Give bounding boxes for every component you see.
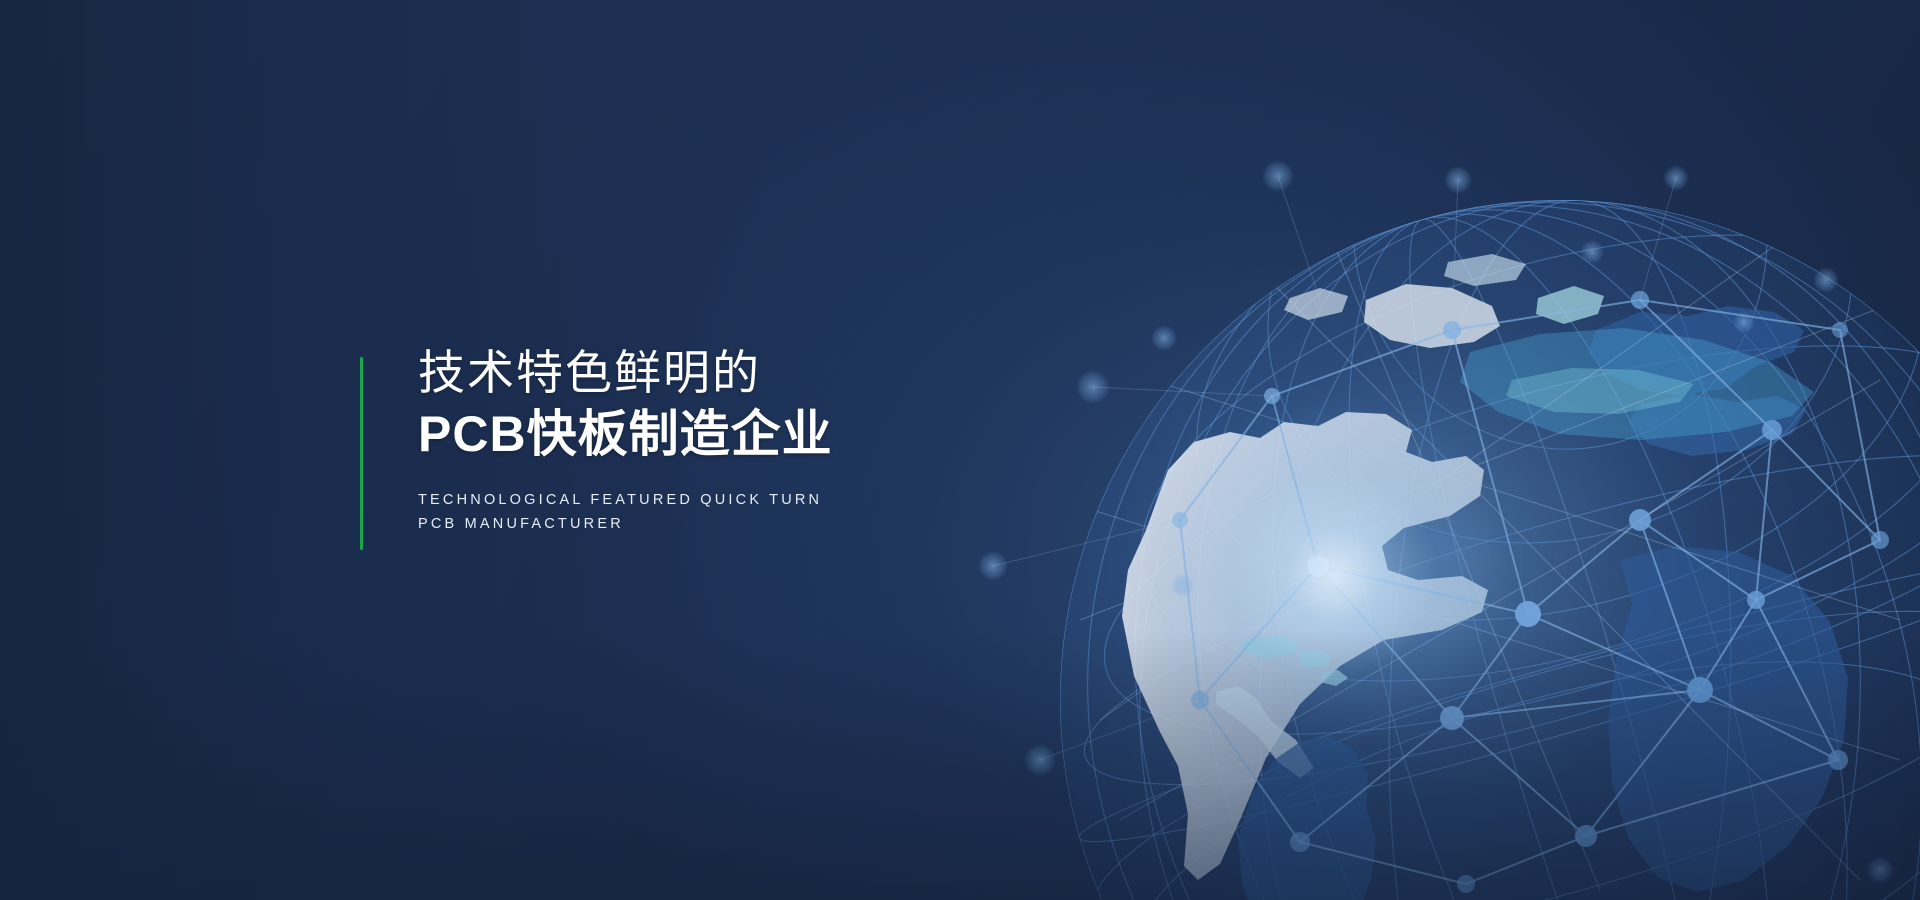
globe-dot-tethers (993, 176, 1676, 760)
hero-banner: 技术特色鲜明的 PCB快板制造企业 TECHNOLOGICAL FEATURED… (0, 0, 1920, 900)
green-accent-bar (360, 357, 363, 550)
hero-title-line-1: 技术特色鲜明的 (418, 345, 833, 400)
hero-subtitle-line-1: TECHNOLOGICAL FEATURED QUICK TURN (418, 489, 833, 512)
hero-title-line-2: PCB快板制造企业 (418, 402, 833, 467)
globe-continents (1122, 254, 1848, 900)
globe-network-nodes (1172, 291, 1889, 893)
wireframe-globe-svg (0, 0, 1920, 900)
globe-floating-dots (978, 160, 1894, 884)
globe-network-arcs (1060, 200, 1900, 890)
globe-network-lines (1180, 300, 1880, 884)
hero-subtitle-line-2: PCB MANUFACTURER (418, 513, 833, 536)
globe-graphic-layer (0, 0, 1920, 900)
globe-hotspot-glow (1120, 360, 1550, 790)
hero-text-column: 技术特色鲜明的 PCB快板制造企业 TECHNOLOGICAL FEATURED… (418, 345, 833, 550)
background-vignette (0, 0, 1920, 900)
globe-sphere-body (1060, 200, 1920, 900)
hero-subtitle: TECHNOLOGICAL FEATURED QUICK TURN PCB MA… (418, 489, 833, 536)
globe-grid (781, 0, 1920, 900)
hero-text-block: 技术特色鲜明的 PCB快板制造企业 TECHNOLOGICAL FEATURED… (360, 345, 833, 550)
